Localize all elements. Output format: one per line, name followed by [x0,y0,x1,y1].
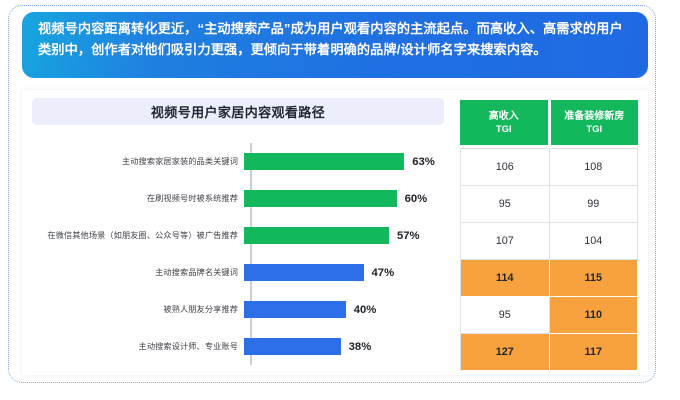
tgi-cell: 99 [550,186,639,223]
bar-category-label: 被熟人朋友分享推荐 [22,304,244,315]
tgi-column-name: 准备装修新房 [564,110,624,123]
bar-track: 63% [244,143,458,180]
table-row: 9599 [461,186,638,223]
slide-root: 视频号内容距离转化更近，“主动搜索产品”成为用户观看内容的主流起点。而高收入、高… [0,0,680,400]
bar-row: 被熟人朋友分享推荐40% [22,291,458,328]
tgi-cell-highlighted: 114 [461,260,550,297]
bar-category-label: 主动搜索设计师、专业账号 [22,341,244,352]
bar-value-label: 63% [412,156,435,168]
chart-plot-area: 主动搜索家居家装的品类关键词63%在刷视频号时被系统推荐60%在微信其他场景（如… [22,135,458,371]
bar-list: 主动搜索家居家装的品类关键词63%在刷视频号时被系统推荐60%在微信其他场景（如… [22,143,458,365]
tgi-column-header: 准备装修新房TGI [551,100,639,145]
chart-title-bar: 视频号用户家居内容观看路径 [32,98,444,125]
bar-value-label: 60% [405,193,428,205]
bar-category-label: 在微信其他场景（如朋友圈、公众号等）被广告推荐 [22,230,244,241]
tgi-cell-highlighted: 127 [461,334,550,371]
tgi-cell: 106 [461,149,550,186]
tgi-column-name: 高收入 [489,110,519,123]
tgi-column-metric: TGI [586,123,602,136]
bar-track: 57% [244,217,458,254]
bar-category-label: 主动搜索品牌名关键词 [22,267,244,278]
bar-value-label: 57% [397,230,420,242]
table-row: 107104 [461,223,638,260]
bar-value-label: 38% [349,341,372,353]
bar-row: 在刷视频号时被系统推荐60% [22,180,458,217]
bar-segment[interactable] [244,301,346,318]
chart-panel: 视频号用户家居内容观看路径 主动搜索家居家装的品类关键词63%在刷视频号时被系统… [22,90,458,375]
table-row: 95110 [461,297,638,334]
headline-banner: 视频号内容距离转化更近，“主动搜索产品”成为用户观看内容的主流起点。而高收入、高… [22,12,648,78]
tgi-cell-highlighted: 117 [550,334,639,371]
bar-segment[interactable] [244,153,404,170]
tgi-cell: 95 [461,297,550,334]
table-row: 114115 [461,260,638,297]
tgi-cell-highlighted: 115 [550,260,639,297]
tgi-cell: 108 [550,149,639,186]
bar-row: 在微信其他场景（如朋友圈、公众号等）被广告推荐57% [22,217,458,254]
tgi-column-metric: TGI [496,123,512,136]
bar-row: 主动搜索设计师、专业账号38% [22,328,458,365]
tgi-cell: 95 [461,186,550,223]
bar-segment[interactable] [244,264,364,281]
headline-text: 视频号内容距离转化更近，“主动搜索产品”成为用户观看内容的主流起点。而高收入、高… [38,19,634,60]
bar-track: 38% [244,328,458,365]
bar-track: 40% [244,291,458,328]
table-row: 127117 [461,334,638,371]
tgi-cell: 107 [461,223,550,260]
bar-value-label: 47% [372,267,395,279]
table-row: 106108 [461,149,638,186]
content-card: 视频号用户家居内容观看路径 主动搜索家居家装的品类关键词63%在刷视频号时被系统… [22,90,648,375]
tgi-table-header: 高收入TGI准备装修新房TGI [460,100,638,145]
bar-track: 60% [244,180,458,217]
tgi-table-body: 106108959910710411411595110127117 [460,148,638,371]
bar-segment[interactable] [244,227,389,244]
tgi-column-header: 高收入TGI [460,100,548,145]
bar-track: 47% [244,254,458,291]
tgi-cell: 104 [550,223,639,260]
bar-value-label: 40% [354,304,377,316]
bar-category-label: 在刷视频号时被系统推荐 [22,193,244,204]
bar-row: 主动搜索家居家装的品类关键词63% [22,143,458,180]
bar-segment[interactable] [244,190,397,207]
bar-row: 主动搜索品牌名关键词47% [22,254,458,291]
tgi-table: 高收入TGI准备装修新房TGI 106108959910710411411595… [460,100,638,366]
tgi-cell-highlighted: 110 [550,297,639,334]
bar-segment[interactable] [244,338,341,355]
bar-category-label: 主动搜索家居家装的品类关键词 [22,156,244,167]
chart-title: 视频号用户家居内容观看路径 [151,102,325,121]
